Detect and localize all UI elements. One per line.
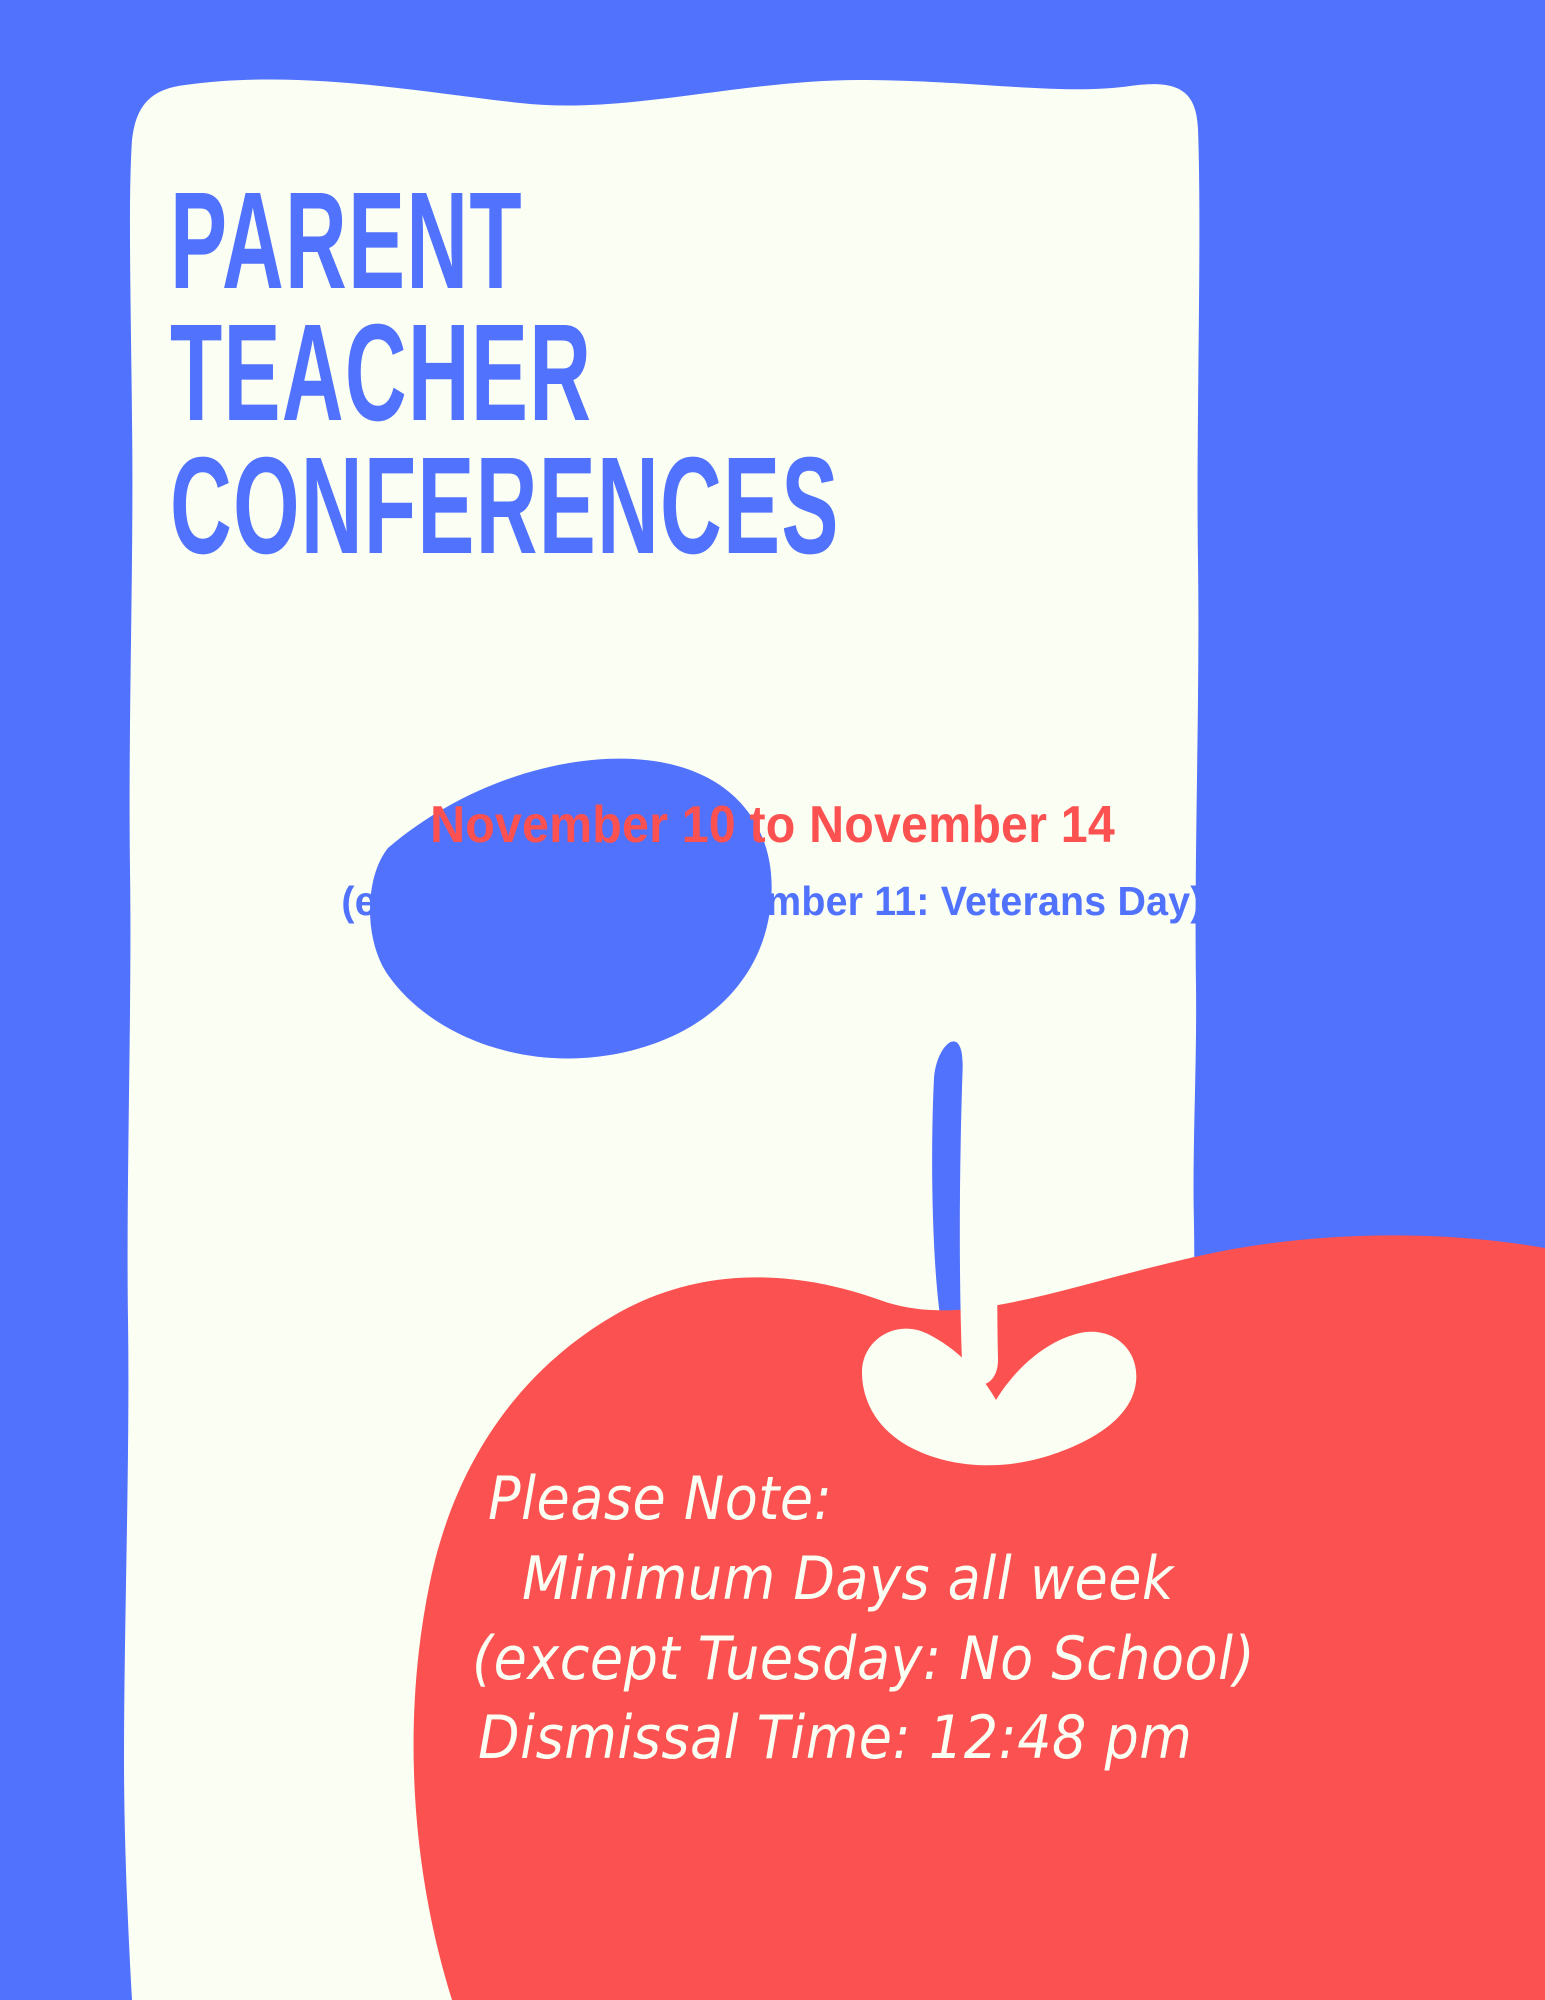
date-range: November 10 to November 14 bbox=[54, 795, 1491, 855]
poster-canvas: PARENT TEACHER CONFERENCES November 10 t… bbox=[0, 0, 1545, 2000]
note-line-4: Dismissal Time: 12:48 pm bbox=[478, 1699, 1210, 1779]
date-exception-note: (except Tuesday, November 11: Veterans D… bbox=[31, 878, 1514, 925]
headline-line-2: TEACHER bbox=[170, 307, 790, 439]
note-line-1: Please Note: bbox=[488, 1460, 1210, 1540]
headline-line-3: CONFERENCES bbox=[170, 440, 790, 572]
page-title: PARENT TEACHER CONFERENCES bbox=[170, 175, 790, 572]
note-line-3: (except Tuesday: No School) bbox=[472, 1620, 1210, 1700]
note-line-2: Minimum Days all week bbox=[522, 1540, 1210, 1620]
headline-line-1: PARENT bbox=[170, 175, 790, 307]
please-note-block: Please Note: Minimum Days all week (exce… bbox=[430, 1460, 1210, 1779]
apple-stem-channel bbox=[960, 1032, 1002, 1385]
